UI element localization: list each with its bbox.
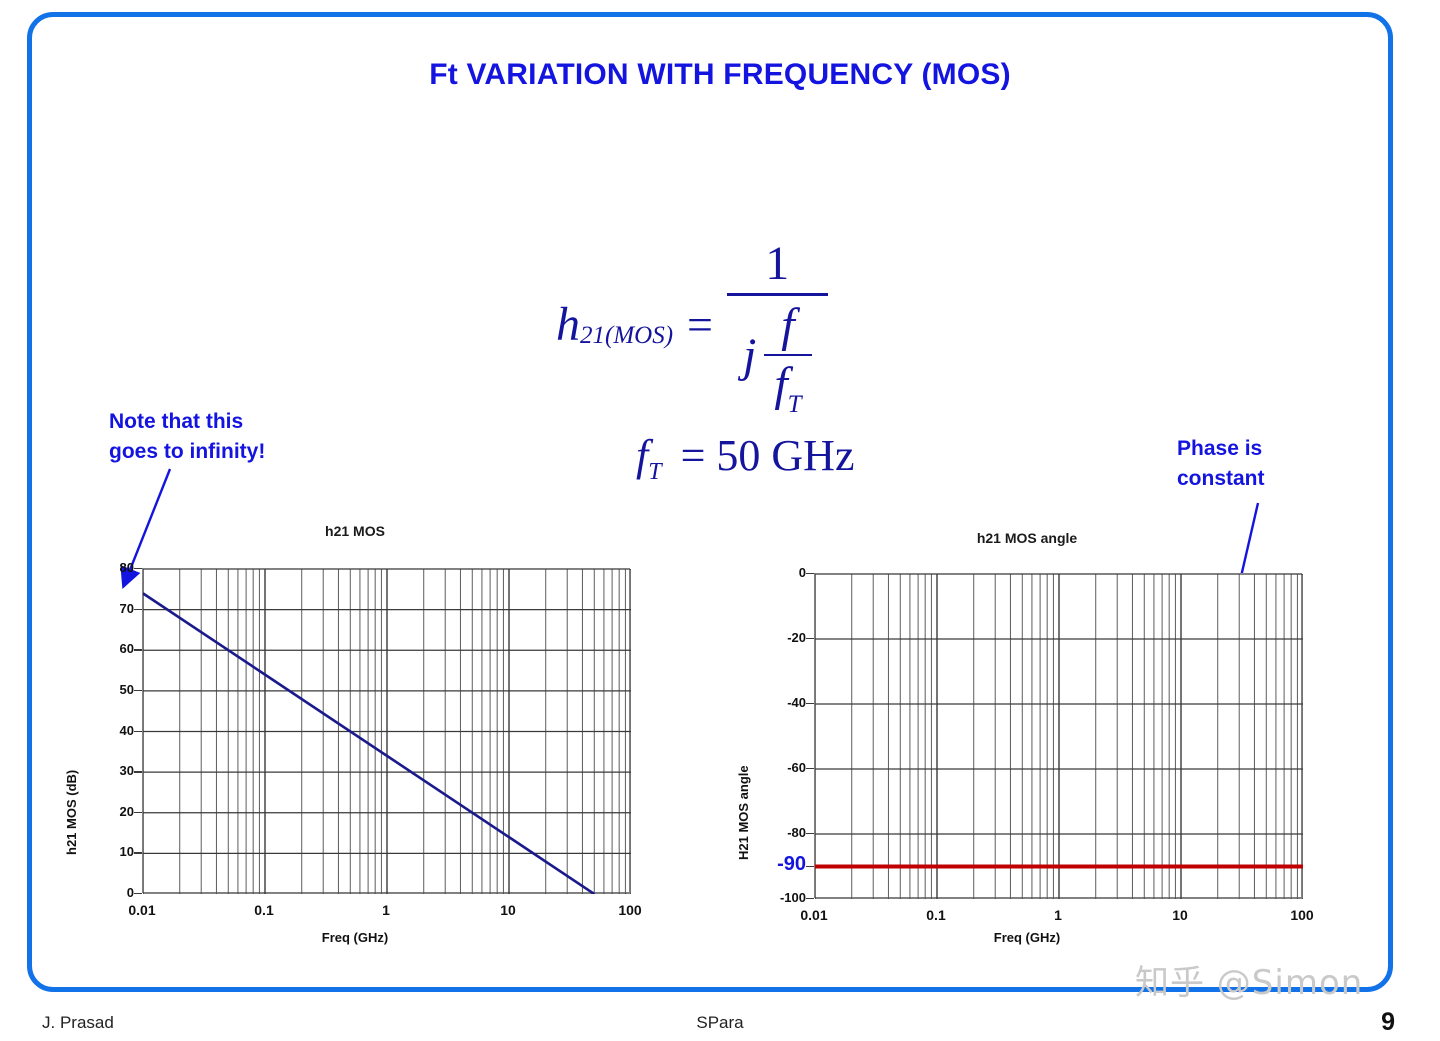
y-tick-label: -80 — [752, 825, 806, 840]
formula-inner-numerator: f — [771, 298, 804, 354]
y-tick-mark — [806, 638, 814, 639]
y-tick-mark — [134, 771, 142, 772]
x-tick-label: 1 — [1018, 907, 1098, 923]
y-tick-mark — [134, 568, 142, 569]
x-tick-label: 100 — [1262, 907, 1342, 923]
annotation-note-infinity: Note that this goes to infinity! — [109, 407, 265, 467]
x-tick-label: 1 — [346, 902, 426, 918]
formula-inner-denominator: fT — [764, 356, 811, 412]
y-tick-mark — [134, 731, 142, 732]
formula-ft-subscript: T — [648, 459, 661, 485]
formula-numerator: 1 — [749, 236, 805, 293]
y-tick-label: -100 — [752, 890, 806, 905]
formula-h21-mos: h21(MOS) = 1 j f fT — [556, 236, 828, 412]
chart-canvas — [815, 574, 1303, 899]
footer-center-label: SPara — [0, 1013, 1440, 1033]
chart-ylabel-phase: H21 MOS angle — [736, 765, 751, 860]
y-tick-label: 20 — [80, 804, 134, 819]
annotation-phase-constant: Phase is constant — [1177, 434, 1265, 494]
y-tick-label: 50 — [80, 682, 134, 697]
plot-area-magnitude — [142, 568, 630, 893]
x-tick-label: 100 — [590, 902, 670, 918]
chart-xlabel-magnitude: Freq (GHz) — [50, 930, 660, 945]
y-tick-mark — [134, 812, 142, 813]
page-title: Ft VARIATION WITH FREQUENCY (MOS) — [0, 58, 1440, 92]
watermark: 知乎 @Simon — [1135, 955, 1363, 1004]
chart-h21-mos-magnitude: h21 MOS h21 MOS (dB) Freq (GHz) 01020304… — [50, 515, 660, 955]
formula-lhs-subscript: 21(MOS) — [580, 322, 673, 350]
y-tick-mark — [134, 609, 142, 610]
formula-denominator: j f fT — [727, 296, 828, 412]
y-tick-mark — [134, 852, 142, 853]
x-tick-label: 0.01 — [774, 907, 854, 923]
formula-lhs-base: h — [556, 297, 580, 352]
y-tick-label: 70 — [80, 601, 134, 616]
chart-h21-mos-angle: h21 MOS angle H21 MOS angle Freq (GHz) 0… — [722, 525, 1332, 955]
y-tick-mark — [806, 898, 814, 899]
y-tick-mark — [134, 893, 142, 894]
y-tick-label: 10 — [80, 844, 134, 859]
chart-ylabel-magnitude: h21 MOS (dB) — [64, 770, 79, 855]
x-tick-label: 0.1 — [224, 902, 304, 918]
formula-ft-rhs: = 50 GHz — [681, 431, 855, 480]
y-tick-label: 0 — [752, 565, 806, 580]
y-tick-mark — [806, 573, 814, 574]
x-tick-label: 0.01 — [102, 902, 182, 918]
y-tick-label: -60 — [752, 760, 806, 775]
y-tick-mark — [806, 833, 814, 834]
y-tick-mark — [806, 866, 814, 867]
y-tick-label: -40 — [752, 695, 806, 710]
formula-main-fraction: 1 j f fT — [727, 236, 828, 412]
y-tick-mark — [134, 690, 142, 691]
plot-area-phase — [814, 573, 1302, 898]
chart-title-phase: h21 MOS angle — [722, 530, 1332, 546]
y-tick-mark — [806, 768, 814, 769]
y-tick-label: 80 — [80, 560, 134, 575]
x-tick-label: 0.1 — [896, 907, 976, 923]
chart-xlabel-phase: Freq (GHz) — [722, 930, 1332, 945]
page-number: 9 — [1381, 1008, 1395, 1037]
y-tick-mark — [134, 649, 142, 650]
y-tick-label: 0 — [80, 885, 134, 900]
y-tick-label: -90 — [752, 853, 806, 876]
chart-canvas — [143, 569, 631, 894]
formula-equals-sign: = — [687, 298, 713, 351]
y-tick-label: -20 — [752, 630, 806, 645]
y-tick-label: 60 — [80, 641, 134, 656]
x-tick-label: 10 — [468, 902, 548, 918]
formula-ft-symbol: f — [636, 431, 648, 480]
y-tick-label: 40 — [80, 723, 134, 738]
formula-ft-value: fT = 50 GHz — [636, 430, 855, 481]
x-tick-label: 10 — [1140, 907, 1220, 923]
y-tick-mark — [806, 703, 814, 704]
formula-inner-fraction: f fT — [764, 298, 811, 412]
y-tick-label: 30 — [80, 763, 134, 778]
chart-title-magnitude: h21 MOS — [50, 523, 660, 539]
formula-imaginary-unit: j — [743, 328, 756, 383]
